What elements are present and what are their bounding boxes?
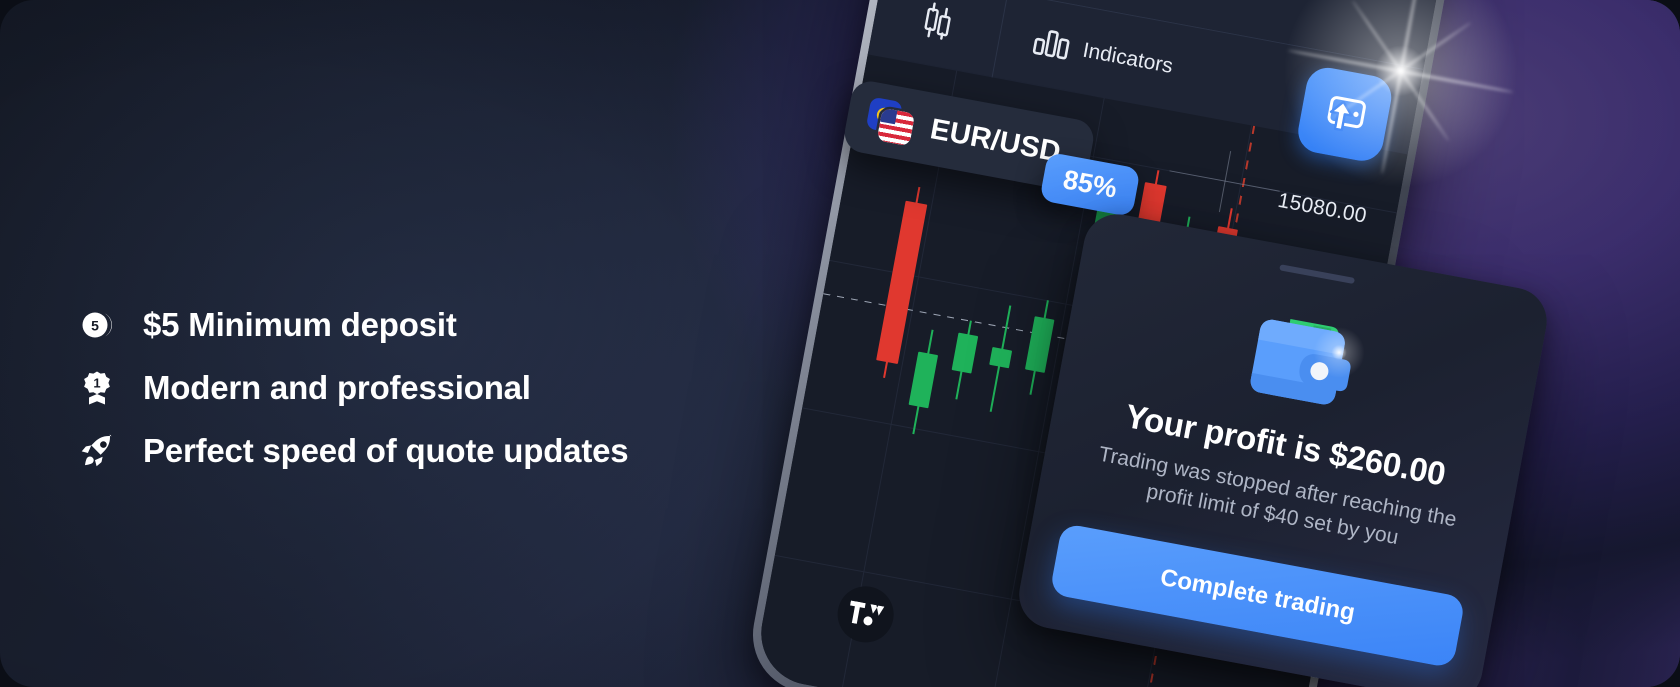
candlestick: [909, 352, 939, 409]
indicators-bar-icon: [1031, 24, 1073, 65]
profit-result-card: Your profit is $260.00 Trading was stopp…: [1014, 209, 1553, 687]
us-flag-icon: [877, 108, 915, 146]
svg-text:1: 1: [93, 376, 100, 391]
candlestick: [952, 333, 979, 374]
candlestick: [876, 201, 927, 364]
rocket-icon: [78, 432, 116, 470]
svg-text:5: 5: [91, 318, 99, 334]
drag-handle[interactable]: [1279, 264, 1355, 284]
coin-5-icon: 5: [78, 306, 116, 344]
indicators-label: Indicators: [1081, 39, 1175, 79]
feature-label: Perfect speed of quote updates: [143, 433, 628, 469]
candlestick-icon: [917, 0, 958, 48]
feature-label: Modern and professional: [143, 370, 531, 406]
wallet-deposit-icon: [1316, 86, 1374, 143]
feature-list: 5 $5 Minimum deposit 1 Modern and profes…: [78, 306, 778, 470]
price-axis-label: 15080.00: [1276, 189, 1369, 229]
wallet-3d-icon: [1236, 298, 1365, 423]
promo-banner: 5 $5 Minimum deposit 1 Modern and profes…: [0, 0, 1680, 687]
candlestick: [989, 347, 1012, 368]
pair-name-label: EUR/USD: [928, 113, 1064, 169]
flag-pair-icon: [864, 97, 917, 147]
badge-1-icon: 1: [78, 369, 116, 407]
feature-item-speed: Perfect speed of quote updates: [78, 432, 778, 470]
tradingview-logo-icon: [833, 582, 898, 647]
deposit-button[interactable]: [1295, 64, 1395, 164]
feature-item-min-deposit: 5 $5 Minimum deposit: [78, 306, 778, 344]
feature-label: $5 Minimum deposit: [143, 307, 457, 343]
sparkle-icon: [1304, 318, 1374, 388]
feature-item-modern: 1 Modern and professional: [78, 369, 778, 407]
candlestick: [1025, 316, 1055, 373]
